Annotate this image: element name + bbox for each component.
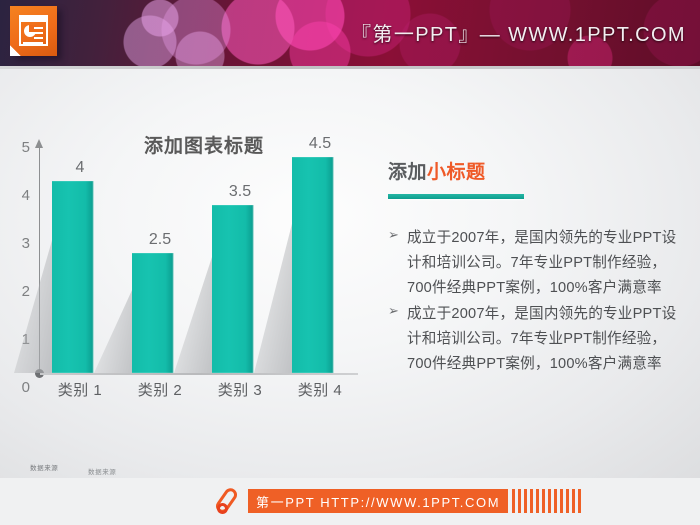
pane-subtitle-part2: 小标题 xyxy=(427,162,486,183)
bar-slot: 4.5 xyxy=(280,133,360,373)
list-item-text: 成立于2007年，是国内领先的专业PPT设计和培训公司。7年专业PPT制作经验，… xyxy=(407,230,676,296)
footer-stripe xyxy=(548,489,551,513)
bar-chart: 添加图表标题 5 4 3 2 1 0 4 2.5 xyxy=(0,69,400,429)
footer-stripe xyxy=(518,489,521,513)
bar-slot: 4 xyxy=(40,133,120,373)
footer-stripe xyxy=(530,489,533,513)
x-axis-line xyxy=(40,373,358,375)
bar-category-2[interactable] xyxy=(132,253,174,373)
x-category-label-1: 类别 1 xyxy=(40,379,120,400)
logo-text-line xyxy=(23,42,43,44)
x-category-label-2: 类别 2 xyxy=(120,379,200,400)
footer-stripe xyxy=(578,489,581,513)
footer-stripe xyxy=(566,489,569,513)
bar-category-3[interactable] xyxy=(212,205,254,373)
header-brand-title: 『第一PPT』— WWW.1PPT.COM xyxy=(351,18,686,47)
pane-subtitle-part1: 添加 xyxy=(388,162,427,183)
header-banner: 『第一PPT』— WWW.1PPT.COM xyxy=(0,0,700,66)
bar-category-4[interactable] xyxy=(292,157,334,373)
footer-stripe xyxy=(512,489,515,513)
y-tick-label: 5 xyxy=(6,139,30,156)
list-item: ➢ 成立于2007年，是国内领先的专业PPT设计和培训公司。7年专业PPT制作经… xyxy=(388,226,688,301)
bar-value-label: 2.5 xyxy=(120,231,200,249)
bar-value-label: 3.5 xyxy=(200,183,280,201)
y-tick-label: 3 xyxy=(6,235,30,252)
bar-category-1[interactable] xyxy=(52,181,94,373)
pane-subtitle-rule xyxy=(388,194,524,199)
arrow-bullet-icon: ➢ xyxy=(388,227,399,243)
logo-tile xyxy=(10,6,57,56)
list-item: ➢ 成立于2007年，是国内领先的专业PPT设计和培训公司。7年专业PPT制作经… xyxy=(388,302,688,377)
y-tick-label: 2 xyxy=(6,283,30,300)
text-pane: 添加小标题 ➢ 成立于2007年，是国内领先的专业PPT设计和培训公司。7年专业… xyxy=(388,157,688,378)
logo-document-shape xyxy=(19,15,48,46)
pen-marker-icon xyxy=(214,486,244,516)
footer-stripe xyxy=(524,489,527,513)
y-tick-label: 0 xyxy=(6,379,30,396)
footer-url-plate: 第一PPT HTTP://WWW.1PPT.COM xyxy=(248,489,508,513)
y-tick-label: 4 xyxy=(6,187,30,204)
x-category-label-4: 类别 4 xyxy=(280,379,360,400)
footer-bar: 第一PPT HTTP://WWW.1PPT.COM xyxy=(0,478,700,525)
chart-data-source-note-secondary: 数据来源 xyxy=(88,466,116,476)
powerpoint-document-icon xyxy=(10,6,62,60)
bar-value-label: 4.5 xyxy=(280,135,360,153)
footer-stripes xyxy=(512,489,581,513)
list-item-text: 成立于2007年，是国内领先的专业PPT设计和培训公司。7年专业PPT制作经验，… xyxy=(407,306,676,372)
footer-stripe xyxy=(572,489,575,513)
x-category-label-3: 类别 3 xyxy=(200,379,280,400)
logo-document-titlebar xyxy=(21,17,46,22)
bar-value-label: 4 xyxy=(40,159,120,177)
logo-text-line xyxy=(34,27,43,29)
arrow-bullet-icon: ➢ xyxy=(388,303,399,319)
plot-area: 4 2.5 3.5 4.5 xyxy=(40,133,360,373)
slide-canvas: 添加图表标题 5 4 3 2 1 0 4 2.5 xyxy=(0,69,700,478)
footer-stripe xyxy=(542,489,545,513)
logo-text-line xyxy=(34,32,43,34)
footer-url-text: 第一PPT HTTP://WWW.1PPT.COM xyxy=(256,492,500,511)
footer-stripe xyxy=(554,489,557,513)
logo-corner-fold xyxy=(10,45,21,56)
logo-text-line xyxy=(34,37,43,39)
footer-stripe xyxy=(560,489,563,513)
pane-subtitle: 添加小标题 xyxy=(388,157,688,184)
bullet-list: ➢ 成立于2007年，是国内领先的专业PPT设计和培训公司。7年专业PPT制作经… xyxy=(388,226,688,377)
chart-data-source-note: 数据来源 xyxy=(30,462,58,472)
footer-stripe xyxy=(536,489,539,513)
